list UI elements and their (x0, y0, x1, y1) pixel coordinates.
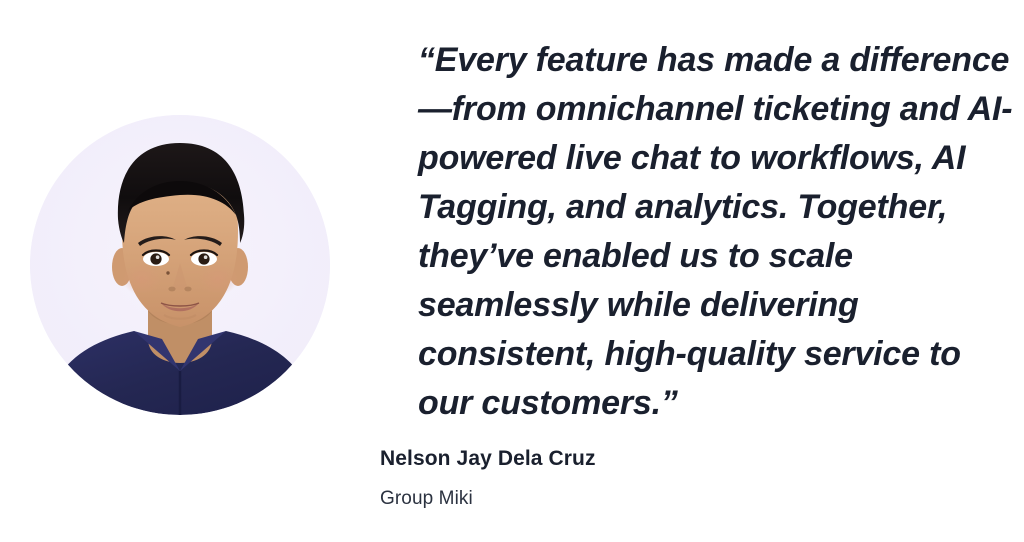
avatar (30, 115, 330, 415)
attribution-company: Group Miki (380, 486, 940, 512)
quote-block: “Every feature has made a difference—fro… (418, 36, 1018, 428)
quote-text: “Every feature has made a difference—fro… (418, 36, 1018, 428)
attribution-name: Nelson Jay Dela Cruz (380, 444, 940, 474)
attribution: Nelson Jay Dela Cruz Group Miki (380, 444, 940, 512)
avatar-portrait-image (30, 115, 330, 415)
testimonial-card: “Every feature has made a difference—fro… (0, 0, 1024, 542)
